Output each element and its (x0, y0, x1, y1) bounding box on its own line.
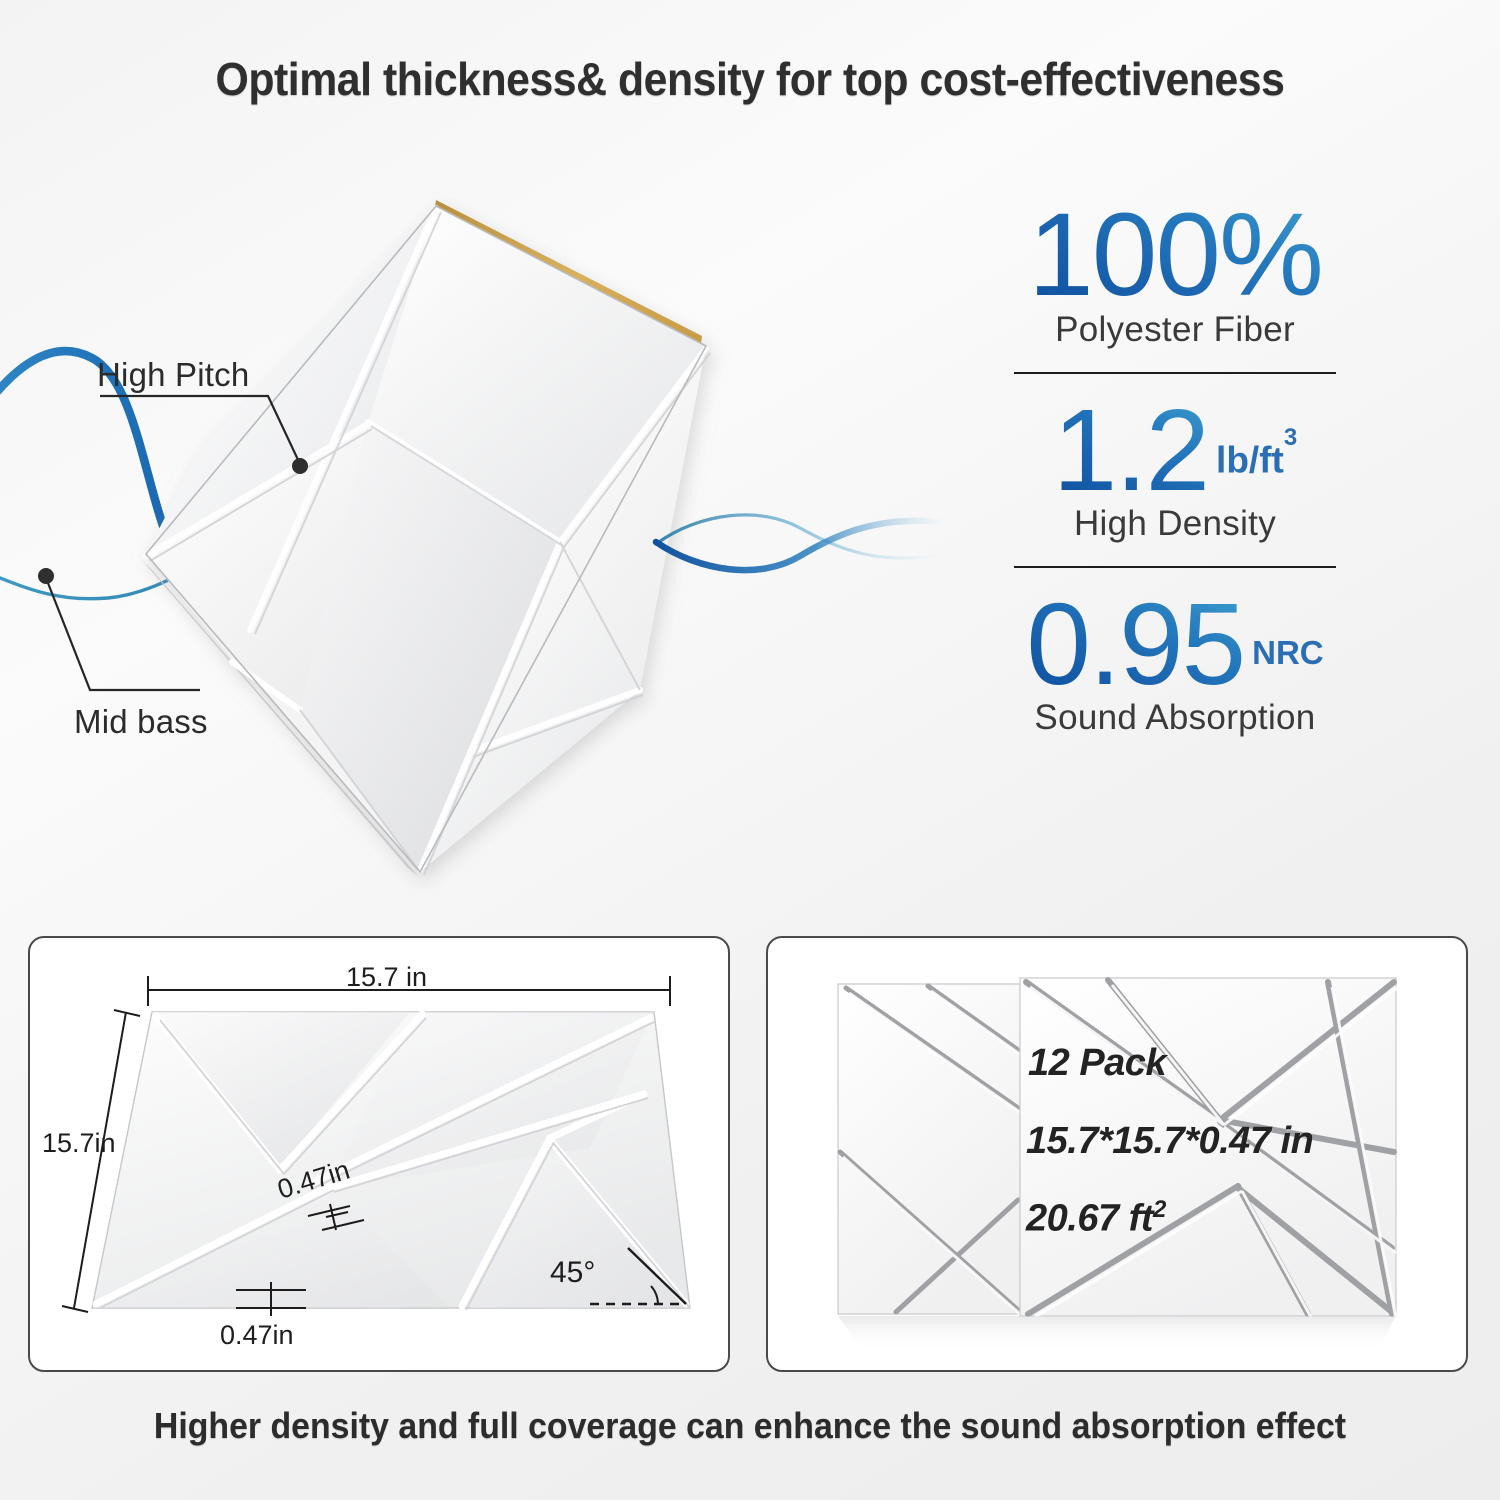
pack-area-value: 20.67 ft (1026, 1198, 1153, 1240)
mid-bass-anchor-dot (38, 568, 54, 584)
hero-graphic (0, 150, 960, 940)
stat-density-unit: lb/ft3 (1216, 438, 1297, 481)
dim-width-label: 15.7 in (346, 962, 427, 993)
stat-nrc-value: 0.95 (1026, 586, 1244, 702)
wave-label-high-pitch: High Pitch (97, 356, 249, 394)
stat-nrc-unit: NRC (1252, 634, 1324, 672)
stat-density-value: 1.2 (1053, 392, 1208, 508)
stat-nrc: 0.95NRC Sound Absorption (975, 586, 1375, 738)
dimensions-diagram (30, 938, 728, 1370)
stat-nrc-caption: Sound Absorption (975, 698, 1375, 738)
wave-label-mid-bass: Mid bass (74, 703, 208, 741)
pack-area-exponent: 2 (1153, 1196, 1166, 1223)
acoustic-panel-3d (142, 200, 710, 876)
sound-wave-outgoing (656, 515, 944, 570)
panel-reflection (838, 1316, 1396, 1352)
dim-height-label: 15.7in (42, 1128, 116, 1159)
dimensions-card: 15.7 in 15.7in 0.47in 0.47in 45° (28, 936, 730, 1372)
hero-illustration: High Pitch Mid bass (0, 150, 960, 940)
spec-stats-column: 100% Polyester Fiber 1.2lb/ft3 High Dens… (975, 196, 1375, 738)
stats-divider-1 (1014, 372, 1336, 374)
high-pitch-anchor-dot (292, 458, 308, 474)
pack-count-label: 12 Pack (1028, 1042, 1166, 1085)
stats-divider-2 (1014, 566, 1336, 568)
stat-polyester-value: 100% (1028, 196, 1322, 314)
pack-info-card: 12 Pack 15.7*15.7*0.47 in 20.67 ft2 (766, 936, 1468, 1372)
footer-caption: Higher density and full coverage can enh… (45, 1405, 1455, 1447)
stat-polyester: 100% Polyester Fiber (975, 196, 1375, 350)
stat-density-unit-exponent: 3 (1284, 424, 1297, 451)
pack-area-label: 20.67 ft2 (1026, 1196, 1166, 1241)
stat-density: 1.2lb/ft3 High Density (975, 392, 1375, 544)
dim-thickness-label-bottom: 0.47in (220, 1320, 294, 1351)
panel-back (838, 984, 1021, 1315)
dim-angle-label: 45° (550, 1256, 595, 1290)
pack-dimensions-label: 15.7*15.7*0.47 in (1026, 1120, 1313, 1163)
page-title: Optimal thickness& density for top cost-… (53, 52, 1448, 106)
stat-density-caption: High Density (975, 504, 1375, 544)
